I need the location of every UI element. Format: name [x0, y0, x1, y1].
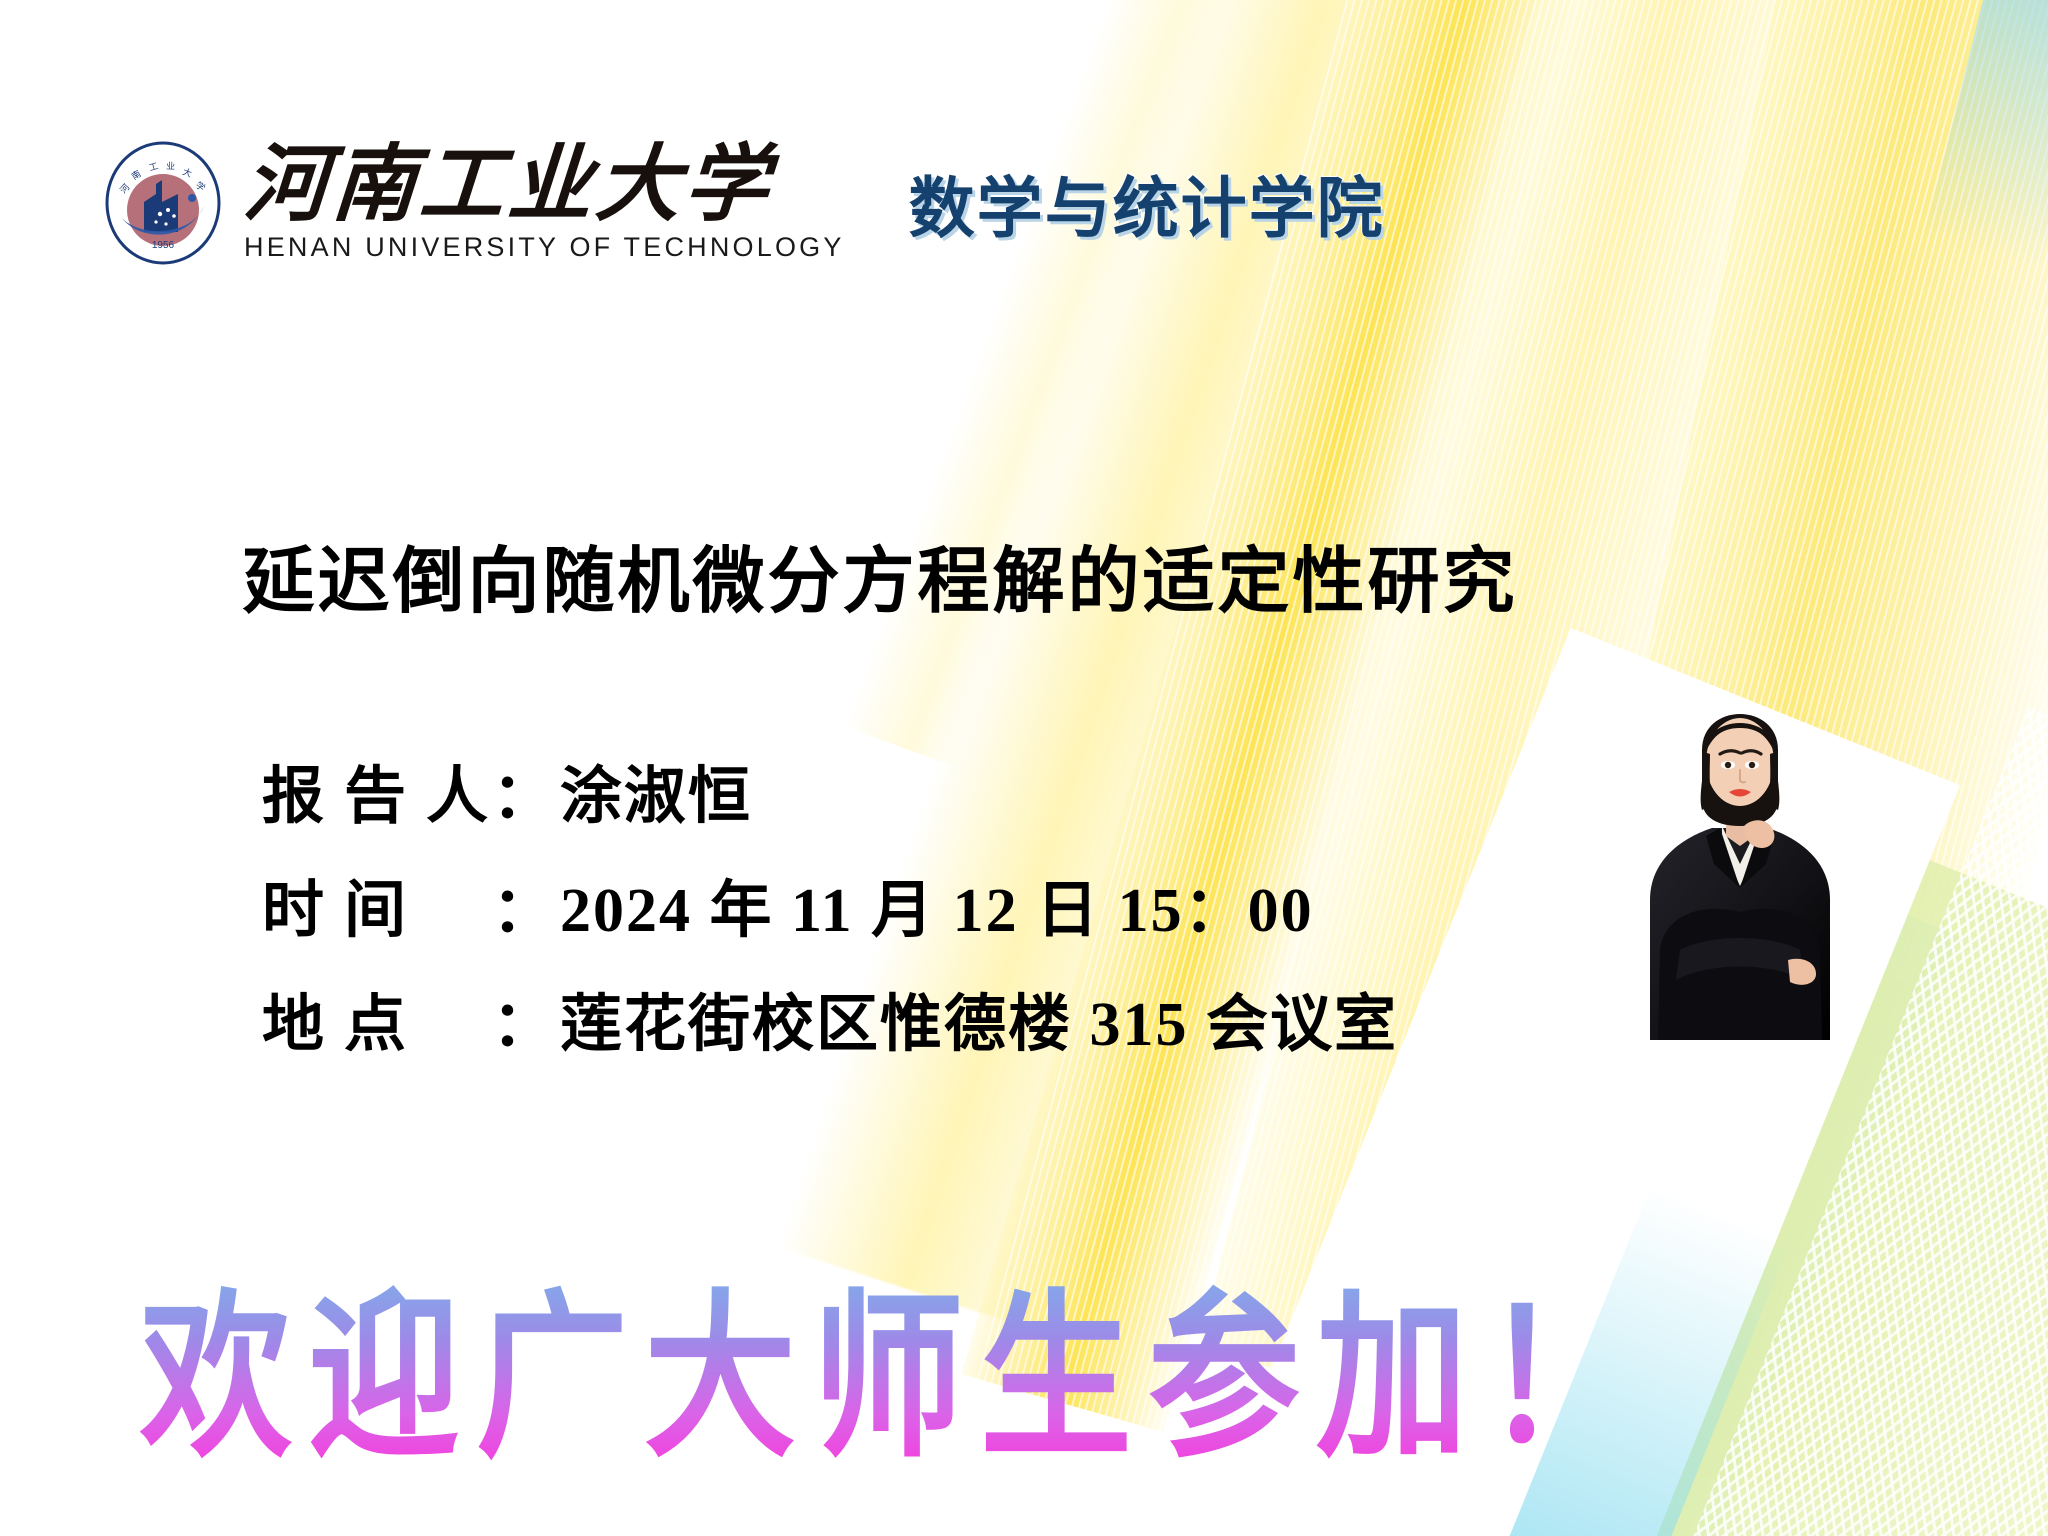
- emblem-year: 1956: [152, 240, 175, 251]
- detail-row-location: 地点 ： 莲花街校区惟德楼 315 会议室: [262, 973, 1398, 1063]
- talk-title: 延迟倒向随机微分方程解的适定性研究: [0, 522, 1760, 627]
- speaker-label: 报告人: [262, 745, 492, 835]
- welcome-banner: 欢迎广大师生参加！: [140, 1232, 1652, 1492]
- location-colon: ：: [492, 973, 554, 1063]
- talk-details: 报告人 ： 涂淑恒 时间 ： 2024 年 11 月 12 日 15：00 地点…: [262, 745, 1398, 1063]
- ribbon-yellow-5: [842, 0, 1263, 767]
- location-label: 地点: [262, 973, 492, 1063]
- time-value: 2024 年 11 月 12 日 15：00: [560, 859, 1314, 949]
- speaker-value: 涂淑恒: [560, 745, 752, 835]
- location-value: 莲花街校区惟德楼 315 会议室: [560, 973, 1398, 1063]
- speaker-portrait: [1640, 650, 1840, 1040]
- svg-text:业: 业: [166, 161, 175, 171]
- university-emblem-icon: 河 南 工 业 大 学 1956: [100, 140, 226, 266]
- university-name-block: 河南工业大学 HENAN UNIVERSITY OF TECHNOLOGY: [244, 144, 845, 263]
- university-name-en: HENAN UNIVERSITY OF TECHNOLOGY: [244, 232, 845, 263]
- detail-row-time: 时间 ： 2024 年 11 月 12 日 15：00: [262, 859, 1398, 949]
- cyan-accent-top: [1923, 0, 2048, 270]
- poster-header: 河 南 工 业 大 学 1956 河南工业大学 HENAN UNIVERSITY…: [100, 140, 1385, 266]
- seminar-poster: 河 南 工 业 大 学 1956 河南工业大学 HENAN UNIVERSITY…: [0, 0, 2048, 1536]
- time-colon: ：: [492, 859, 554, 949]
- university-name-cn: 河南工业大学: [241, 144, 847, 228]
- speaker-colon: ：: [492, 745, 554, 835]
- time-label: 时间: [262, 859, 492, 949]
- school-name-cn: 数学与统计学院: [909, 155, 1385, 251]
- detail-row-speaker: 报告人 ： 涂淑恒: [262, 745, 1398, 835]
